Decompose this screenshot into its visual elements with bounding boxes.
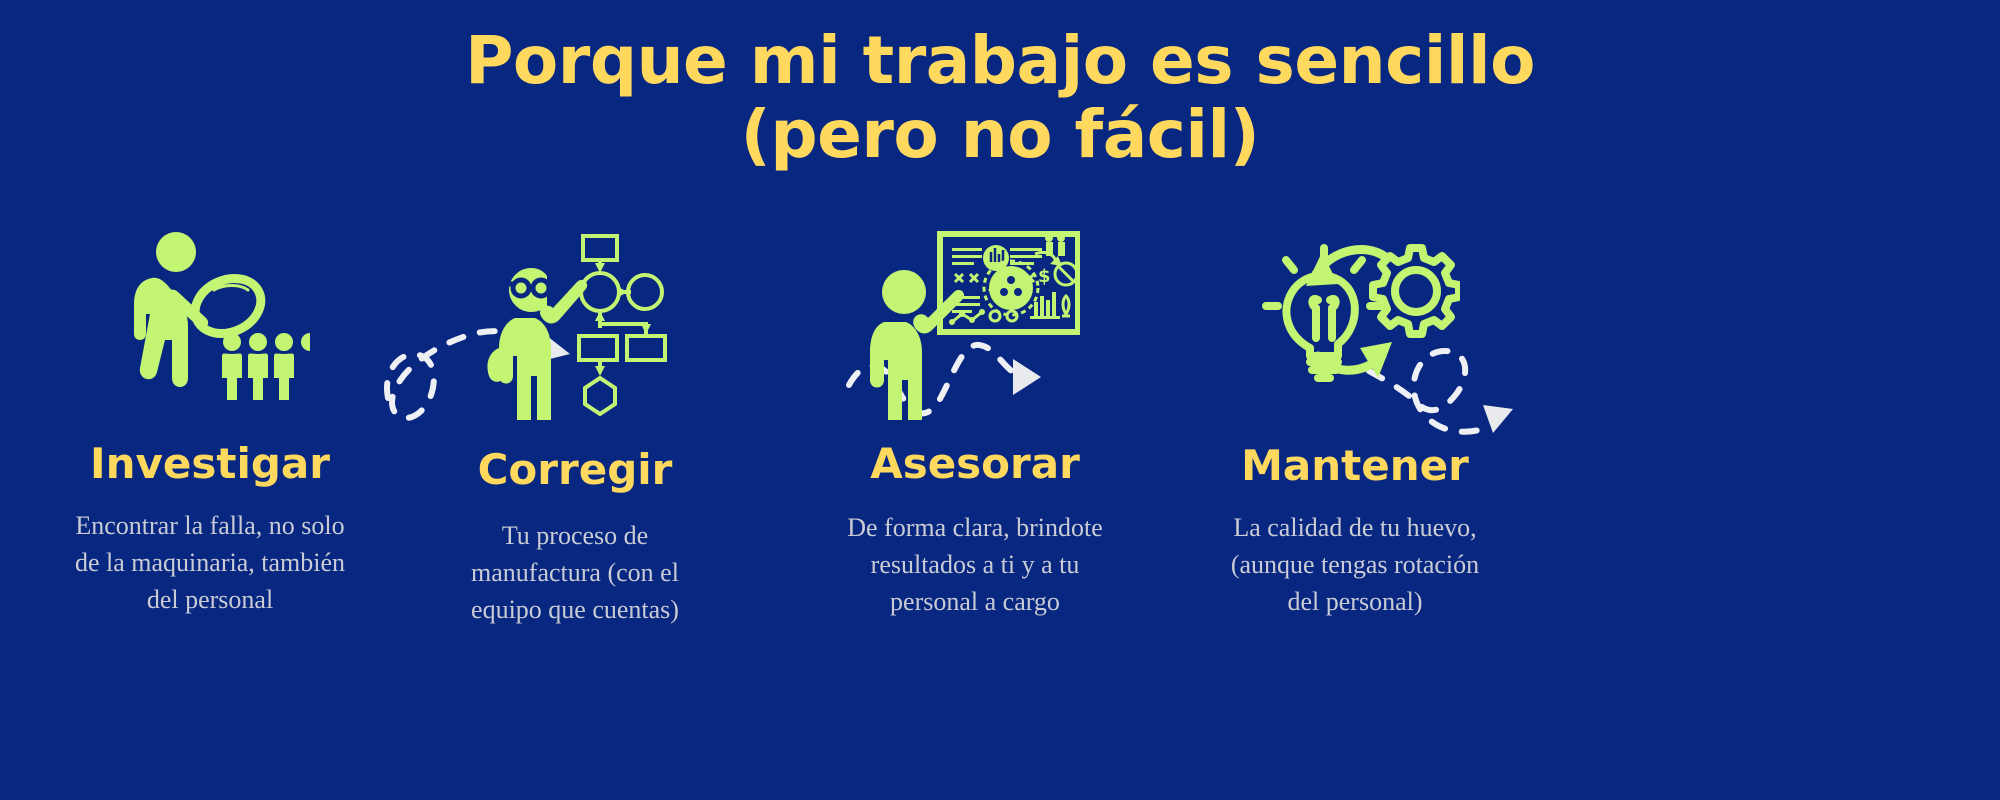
title-line-1: Porque mi trabajo es sencillo: [0, 24, 2000, 98]
step-asesorar: $: [825, 230, 1125, 621]
svg-text:$: $: [1038, 266, 1051, 287]
step-mantener-title: Mantener: [1205, 444, 1505, 488]
step-asesorar-title: Asesorar: [825, 442, 1125, 486]
step-asesorar-description: De forma clara, brindote resultados a ti…: [825, 510, 1125, 621]
person-flowchart-icon: [475, 230, 675, 426]
person-presentation-board-icon: $: [870, 230, 1080, 422]
step-corregir-description: Tu proceso de manufactura (con el equipo…: [425, 518, 725, 629]
step-investigar-description: Encontrar la falla, no solo de la maquin…: [60, 508, 360, 619]
step-corregir-icon-wrap: [425, 230, 725, 426]
infographic-canvas: Porque mi trabajo es sencillo (pero no f…: [0, 0, 2000, 800]
lightbulb-gear-cycle-icon: [1250, 230, 1460, 398]
step-mantener-icon-wrap: [1205, 230, 1505, 398]
person-magnifying-glass-people-icon: [110, 230, 310, 402]
step-corregir-title: Corregir: [425, 448, 725, 492]
steps-row: Investigar Encontrar la falla, no solo d…: [0, 230, 2000, 790]
step-investigar: Investigar Encontrar la falla, no solo d…: [60, 230, 360, 619]
step-asesorar-icon-wrap: $: [825, 230, 1125, 422]
step-investigar-icon-wrap: [60, 230, 360, 402]
step-mantener: Mantener La calidad de tu huevo, (aunque…: [1205, 230, 1505, 621]
step-investigar-title: Investigar: [60, 442, 360, 486]
title-line-2: (pero no fácil): [0, 98, 2000, 172]
step-corregir: Corregir Tu proceso de manufactura (con …: [425, 230, 725, 629]
step-mantener-description: La calidad de tu huevo, (aunque tengas r…: [1205, 510, 1505, 621]
page-title: Porque mi trabajo es sencillo (pero no f…: [0, 24, 2000, 172]
